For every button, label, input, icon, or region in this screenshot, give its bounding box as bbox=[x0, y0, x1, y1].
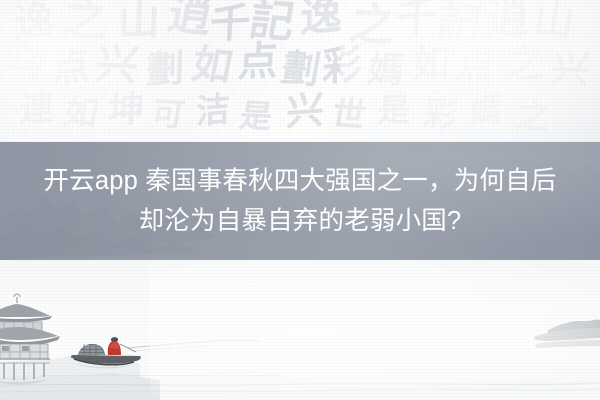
calligraphy-glyph: 山 bbox=[531, 0, 578, 42]
calligraphy-glyph: 是 bbox=[238, 99, 275, 132]
calligraphy-glyph: 山 bbox=[117, 0, 160, 44]
calligraphy-glyph: 世 bbox=[329, 97, 369, 134]
calligraphy-glyph: 点 bbox=[455, 47, 498, 86]
calligraphy-glyph: 逸 bbox=[14, 0, 54, 44]
calligraphy-glyph: 如 bbox=[61, 95, 101, 132]
article-cover-image: 逸之山逍千記逸之千記逍山乌点兴劃如点劃彩媽如点之兴連如坤可洁是兴世是彩媽之 开云… bbox=[0, 0, 600, 400]
calligraphy-glyph: 兴 bbox=[549, 49, 592, 88]
boatman-figure bbox=[108, 337, 121, 355]
calligraphy-glyph: 逍 bbox=[485, 0, 531, 41]
ink-wash-scene-panel bbox=[0, 260, 600, 400]
calligraphy-glyph: 彩 bbox=[322, 44, 363, 88]
calligraphy-glyph: 媽 bbox=[365, 51, 407, 89]
calligraphy-glyph: 兴 bbox=[285, 91, 324, 132]
boat-cabin bbox=[78, 344, 105, 355]
calligraphy-glyph: 連 bbox=[19, 91, 54, 128]
distant-shoreline-icon bbox=[534, 320, 600, 348]
calligraphy-glyph: 洁 bbox=[196, 92, 230, 129]
calligraphy-glyph: 坤 bbox=[107, 91, 145, 129]
calligraphy-glyph: 乌 bbox=[4, 42, 47, 81]
calligraphy-glyph-layer: 逸之山逍千記逸之千記逍山乌点兴劃如点劃彩媽如点之兴連如坤可洁是兴世是彩媽之 bbox=[0, 0, 600, 142]
calligraphy-glyph: 劃 bbox=[279, 49, 324, 89]
calligraphy-glyph: 逍 bbox=[164, 0, 216, 40]
calligraphy-glyph: 千 bbox=[395, 0, 437, 41]
calligraphy-glyph: 之 bbox=[503, 43, 544, 86]
calligraphy-glyph: 点 bbox=[52, 46, 91, 88]
ink-wash-scene-illustration bbox=[0, 260, 600, 400]
calligraphy-glyph: 之 bbox=[513, 99, 552, 135]
calligraphy-glyph: 之 bbox=[58, 0, 111, 43]
calligraphy-glyph: 媽 bbox=[469, 93, 503, 127]
calligraphy-glyph: 如 bbox=[188, 45, 236, 88]
calligraphy-glyph: 兴 bbox=[93, 43, 142, 87]
calligraphy-glyph: 如 bbox=[411, 43, 451, 83]
cover-title-line-2: 却沦为自暴自弃的老弱小国? bbox=[139, 201, 462, 241]
calligraphy-glyph: 逸 bbox=[300, 0, 343, 39]
calligraphy-glyph: 彩 bbox=[421, 97, 461, 133]
calligraphy-texture-panel: 逸之山逍千記逸之千記逍山乌点兴劃如点劃彩媽如点之兴連如坤可洁是兴世是彩媽之 bbox=[0, 0, 600, 142]
cover-title: 开云app 秦国事春秋四大强国之一，为何自后 却沦为自暴自弃的老弱小国? bbox=[0, 142, 600, 260]
cover-title-line-1: 开云app 秦国事春秋四大强国之一，为何自后 bbox=[43, 161, 556, 201]
calligraphy-glyph: 点 bbox=[237, 41, 280, 83]
calligraphy-glyph: 是 bbox=[377, 93, 411, 126]
calligraphy-glyph: 劃 bbox=[145, 49, 184, 90]
calligraphy-glyph: 可 bbox=[149, 97, 187, 131]
title-band: 开云app 秦国事春秋四大强国之一，为何自后 却沦为自暴自弃的老弱小国? bbox=[0, 142, 600, 260]
